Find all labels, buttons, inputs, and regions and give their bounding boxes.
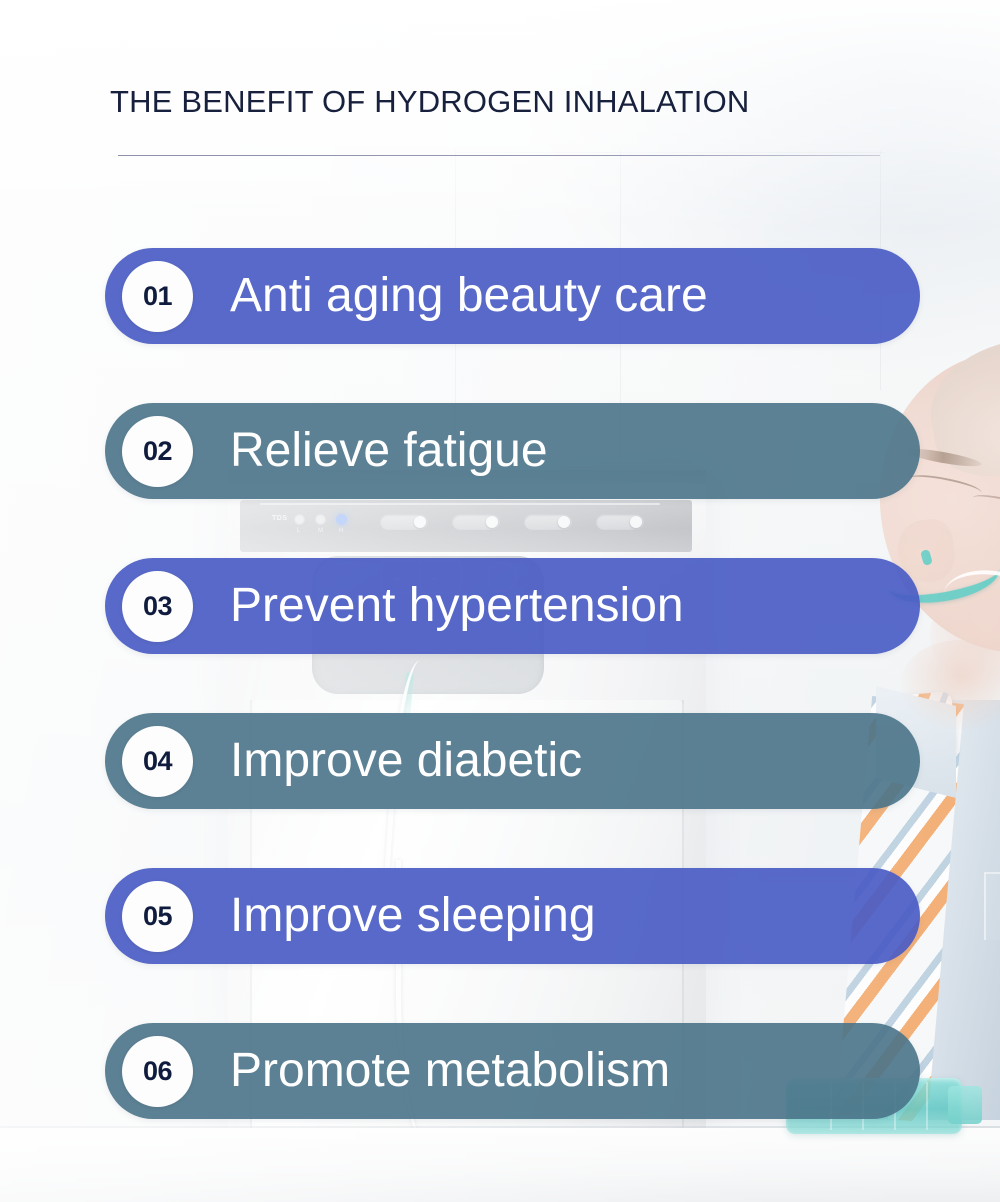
title-divider	[118, 155, 880, 156]
benefit-number-badge: 06	[122, 1036, 193, 1107]
benefit-number: 05	[143, 901, 172, 932]
benefit-number-badge: 03	[122, 571, 193, 642]
poster-canvas: TDS L M H + −	[0, 0, 1000, 1202]
benefit-label: Anti aging beauty care	[230, 272, 708, 320]
benefit-number-badge: 01	[122, 261, 193, 332]
benefit-label: Prevent hypertension	[230, 582, 684, 630]
benefit-list: 01Anti aging beauty care02Relieve fatigu…	[105, 248, 920, 1178]
benefit-item-01[interactable]: 01Anti aging beauty care	[105, 248, 920, 344]
benefit-number: 03	[143, 591, 172, 622]
benefit-item-04[interactable]: 04Improve diabetic	[105, 713, 920, 809]
benefit-number-badge: 05	[122, 881, 193, 952]
benefit-item-03[interactable]: 03Prevent hypertension	[105, 558, 920, 654]
benefit-label: Improve diabetic	[230, 737, 582, 785]
benefit-number-badge: 04	[122, 726, 193, 797]
benefit-label: Relieve fatigue	[230, 427, 548, 475]
benefit-number: 01	[143, 281, 172, 312]
benefit-number: 02	[143, 436, 172, 467]
benefit-item-02[interactable]: 02Relieve fatigue	[105, 403, 920, 499]
benefit-number: 04	[143, 746, 172, 777]
benefit-item-06[interactable]: 06Promote metabolism	[105, 1023, 920, 1119]
benefit-number: 06	[143, 1056, 172, 1087]
page-title: THE BENEFIT OF HYDROGEN INHALATION	[110, 84, 750, 120]
benefit-label: Promote metabolism	[230, 1047, 670, 1095]
poster-content: THE BENEFIT OF HYDROGEN INHALATION 01Ant…	[0, 0, 1000, 1202]
benefit-number-badge: 02	[122, 416, 193, 487]
benefit-label: Improve sleeping	[230, 892, 596, 940]
benefit-item-05[interactable]: 05Improve sleeping	[105, 868, 920, 964]
